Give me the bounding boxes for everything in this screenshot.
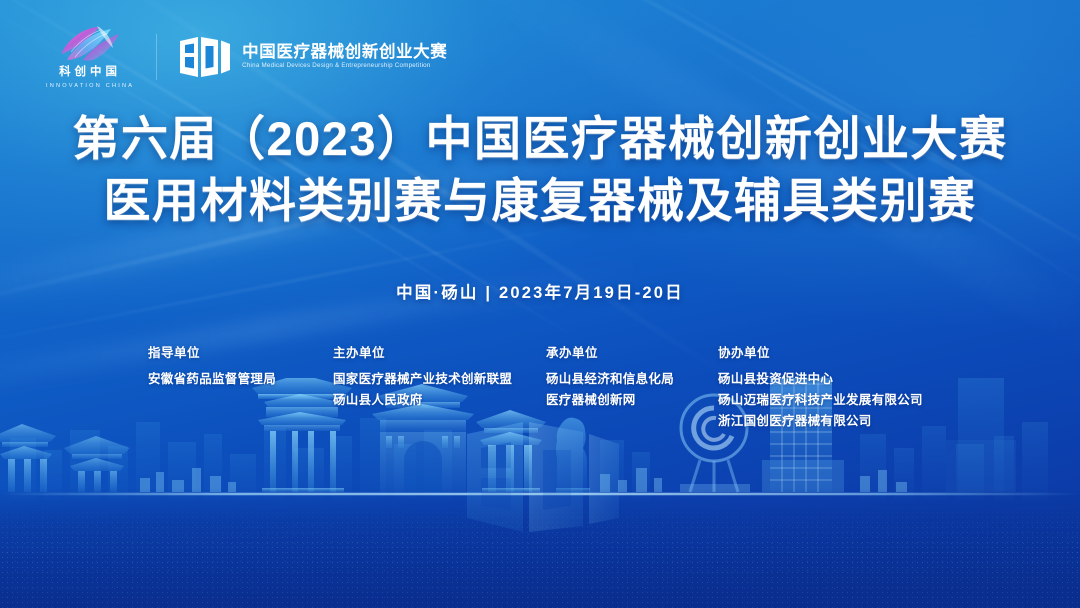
poster-canvas: 科创中国 INNOVATION CHINA 中国医疗器械创新创业大赛 China… — [0, 0, 1080, 608]
organizer-heading: 承办单位 — [546, 342, 718, 361]
organizer-item: 砀山县投资促进中心 — [718, 369, 923, 390]
innovation-china-cn-label: 科创中国 — [59, 67, 121, 79]
organizer-item: 砀山迈瑞医疗科技产业发展有限公司 — [718, 390, 923, 411]
header-logo-group: 科创中国 INNOVATION CHINA 中国医疗器械创新创业大赛 China… — [46, 24, 447, 89]
organizer-column-guidance: 指导单位 安徽省药品监督管理局 — [148, 342, 333, 390]
poster-title: 第六届（2023）中国医疗器械创新创业大赛 医用材料类别赛与康复器械及辅具类别赛 — [0, 108, 1080, 232]
organizer-columns: 指导单位 安徽省药品监督管理局 主办单位 国家医疗器械产业技术创新联盟 砀山县人… — [148, 342, 923, 432]
dove-bird-icon — [53, 24, 127, 64]
open-book-door-icon — [179, 34, 231, 80]
organizer-column-undertaker: 承办单位 砀山县经济和信息化局 医疗器械创新网 — [546, 342, 718, 411]
innovation-china-en-label: INNOVATION CHINA — [46, 84, 134, 90]
organizer-item: 浙江国创医疗器械有限公司 — [718, 411, 923, 432]
organizer-item: 医疗器械创新网 — [546, 390, 718, 411]
tower-slab — [946, 378, 1016, 492]
competition-logo: 中国医疗器械创新创业大赛 China Medical Devices Desig… — [179, 34, 447, 80]
organizer-heading: 指导单位 — [148, 342, 333, 361]
competition-en-label: China Medical Devices Design & Entrepren… — [242, 63, 447, 70]
event-location-date: 中国·砀山 | 2023年7月19日-20日 — [0, 279, 1080, 303]
competition-cn-label: 中国医疗器械创新创业大赛 — [242, 44, 447, 61]
organizer-column-coorganizer: 协办单位 砀山县投资促进中心 砀山迈瑞医疗科技产业发展有限公司 浙江国创医疗器械… — [718, 342, 923, 432]
organizer-item: 砀山县经济和信息化局 — [546, 369, 718, 390]
organizer-column-host: 主办单位 国家医疗器械产业技术创新联盟 砀山县人民政府 — [333, 342, 546, 411]
organizer-item: 砀山县人民政府 — [333, 390, 546, 411]
logo-divider — [156, 34, 157, 80]
organizer-heading: 协办单位 — [718, 342, 923, 361]
competition-logo-text: 中国医疗器械创新创业大赛 China Medical Devices Desig… — [242, 44, 447, 70]
organizer-item: 国家医疗器械产业技术创新联盟 — [333, 369, 546, 390]
organizer-item: 安徽省药品监督管理局 — [148, 369, 333, 390]
watermark-competition-logo — [463, 414, 623, 544]
title-line-1: 第六届（2023）中国医疗器械创新创业大赛 — [0, 108, 1080, 170]
title-line-2: 医用材料类别赛与康复器械及辅具类别赛 — [0, 170, 1080, 232]
innovation-china-logo: 科创中国 INNOVATION CHINA — [46, 24, 134, 89]
organizer-heading: 主办单位 — [333, 342, 546, 361]
